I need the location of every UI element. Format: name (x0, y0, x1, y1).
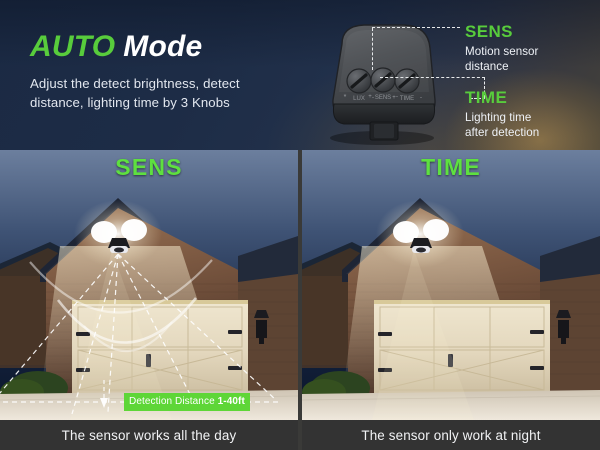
callout-sens-desc-line1: Motion sensor (465, 44, 538, 59)
svg-text:SENS: SENS (375, 95, 391, 101)
leader-line-time-horizontal (380, 77, 485, 78)
comparison-panels: SENS The sensor works all the day (0, 150, 600, 450)
svg-text:-: - (372, 95, 374, 101)
svg-text:*: * (344, 94, 347, 101)
svg-text:LUX: LUX (353, 96, 365, 102)
infographic-page: AUTOMode Adjust the detect brightness, d… (0, 0, 600, 450)
panel-divider (298, 150, 302, 450)
header-section: AUTOMode Adjust the detect brightness, d… (0, 0, 600, 150)
callout-time-description: Lighting time after detection (465, 110, 539, 140)
leader-line-sens-horizontal (372, 27, 460, 28)
svg-text:-: - (396, 94, 398, 100)
scene-time-photo (302, 150, 600, 420)
panel-label-sens: SENS (0, 154, 298, 181)
panel-caption-time: The sensor only work at night (302, 420, 600, 450)
callout-time-desc-line2: after detection (465, 125, 539, 140)
panel-time: TIME The sensor only work at night (302, 150, 600, 450)
panel-caption-sens: The sensor works all the day (0, 420, 298, 450)
svg-text:+: + (368, 94, 372, 100)
callout-sens-description: Motion sensor distance (465, 44, 538, 74)
leader-line-sens-vertical (372, 28, 373, 70)
detection-distance-label: Detection Distance (129, 396, 218, 407)
svg-text:-: - (420, 95, 422, 101)
title-rest: Mode (123, 30, 202, 63)
motion-sensor-device: LUX * - SENS + - TIME + - (312, 18, 452, 146)
svg-text:TIME: TIME (400, 96, 414, 102)
callout-sens: SENS Motion sensor distance (465, 22, 538, 74)
svg-text:+: + (392, 95, 396, 101)
callout-time-desc-line1: Lighting time (465, 110, 539, 125)
page-subtitle: Adjust the detect brightness, detect dis… (30, 74, 290, 112)
panel-label-time: TIME (302, 154, 600, 181)
detection-distance-value: 1-40ft (218, 396, 245, 407)
callout-sens-title: SENS (465, 22, 538, 41)
scene-sens-photo (0, 150, 298, 420)
detection-distance-badge: Detection Distance 1-40ft (124, 393, 250, 411)
callout-time: TIME Lighting time after detection (465, 88, 539, 140)
title-accent: AUTO (30, 30, 115, 63)
page-title: AUTOMode (30, 30, 202, 64)
callout-time-title: TIME (465, 88, 539, 107)
callout-sens-desc-line2: distance (465, 59, 538, 74)
